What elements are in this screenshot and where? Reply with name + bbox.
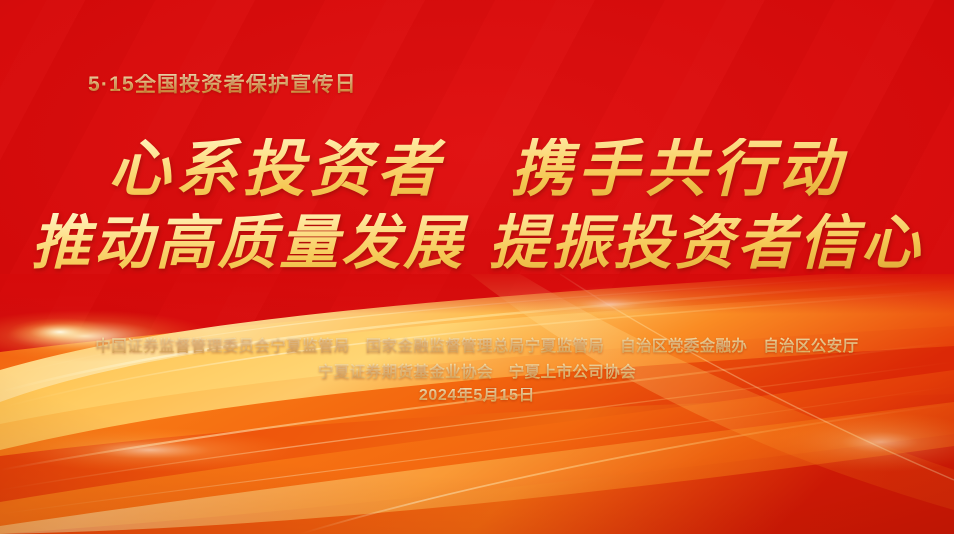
main-title: 心系投资者 携手共行动 推动高质量发展 提振投资者信心: [0, 138, 954, 272]
organizer-line-2: 宁夏证券期货基金业协会 宁夏上市公司协会: [0, 360, 954, 386]
title-line-1: 心系投资者 携手共行动: [0, 138, 954, 200]
event-date: 2024年5月15日: [0, 388, 954, 404]
title-line-2: 推动高质量发展 提振投资者信心: [0, 213, 954, 272]
event-eyebrow-label: 5·15全国投资者保护宣传日: [88, 74, 357, 95]
investor-protection-banner: 5·15全国投资者保护宣传日 心系投资者 携手共行动 推动高质量发展 提振投资者…: [0, 0, 954, 534]
organizer-line-1: 中国证券监督管理委员会宁夏监管局 国家金融监督管理总局宁夏监管局 自治区党委金融…: [0, 334, 954, 360]
banner-content: 5·15全国投资者保护宣传日 心系投资者 携手共行动 推动高质量发展 提振投资者…: [0, 0, 954, 534]
organizer-list: 中国证券监督管理委员会宁夏监管局 国家金融监督管理总局宁夏监管局 自治区党委金融…: [0, 334, 954, 386]
